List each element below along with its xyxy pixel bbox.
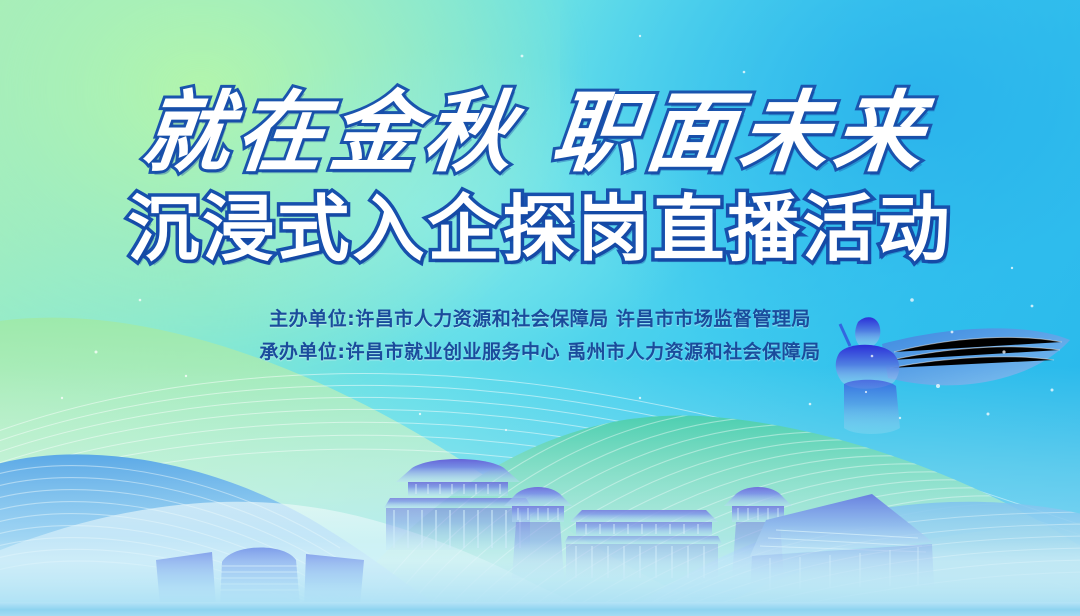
- organizer-line-host: 主办单位:许昌市人力资源和社会保障局 许昌市市场监督管理局: [0, 303, 1080, 336]
- poster-canvas: 就在金秋职面未来 沉浸式入企探岗直播活动 主办单位:许昌市人力资源和社会保障局 …: [0, 0, 1080, 616]
- main-title-part-2: 职面未来: [547, 80, 934, 184]
- main-title-part-1: 就在金秋: [137, 80, 524, 184]
- poster-main-title: 就在金秋职面未来: [0, 0, 1080, 178]
- organizer-line-co-host: 承办单位:许昌市就业创业服务中心 禹州市人力资源和社会保障局: [0, 336, 1080, 369]
- poster-text-block: 就在金秋职面未来 沉浸式入企探岗直播活动 主办单位:许昌市人力资源和社会保障局 …: [0, 0, 1080, 369]
- poster-subtitle: 沉浸式入企探岗直播活动: [0, 178, 1080, 269]
- organizer-block: 主办单位:许昌市人力资源和社会保障局 许昌市市场监督管理局 承办单位:许昌市就业…: [0, 269, 1080, 370]
- bottom-edge-strip: [0, 602, 1080, 616]
